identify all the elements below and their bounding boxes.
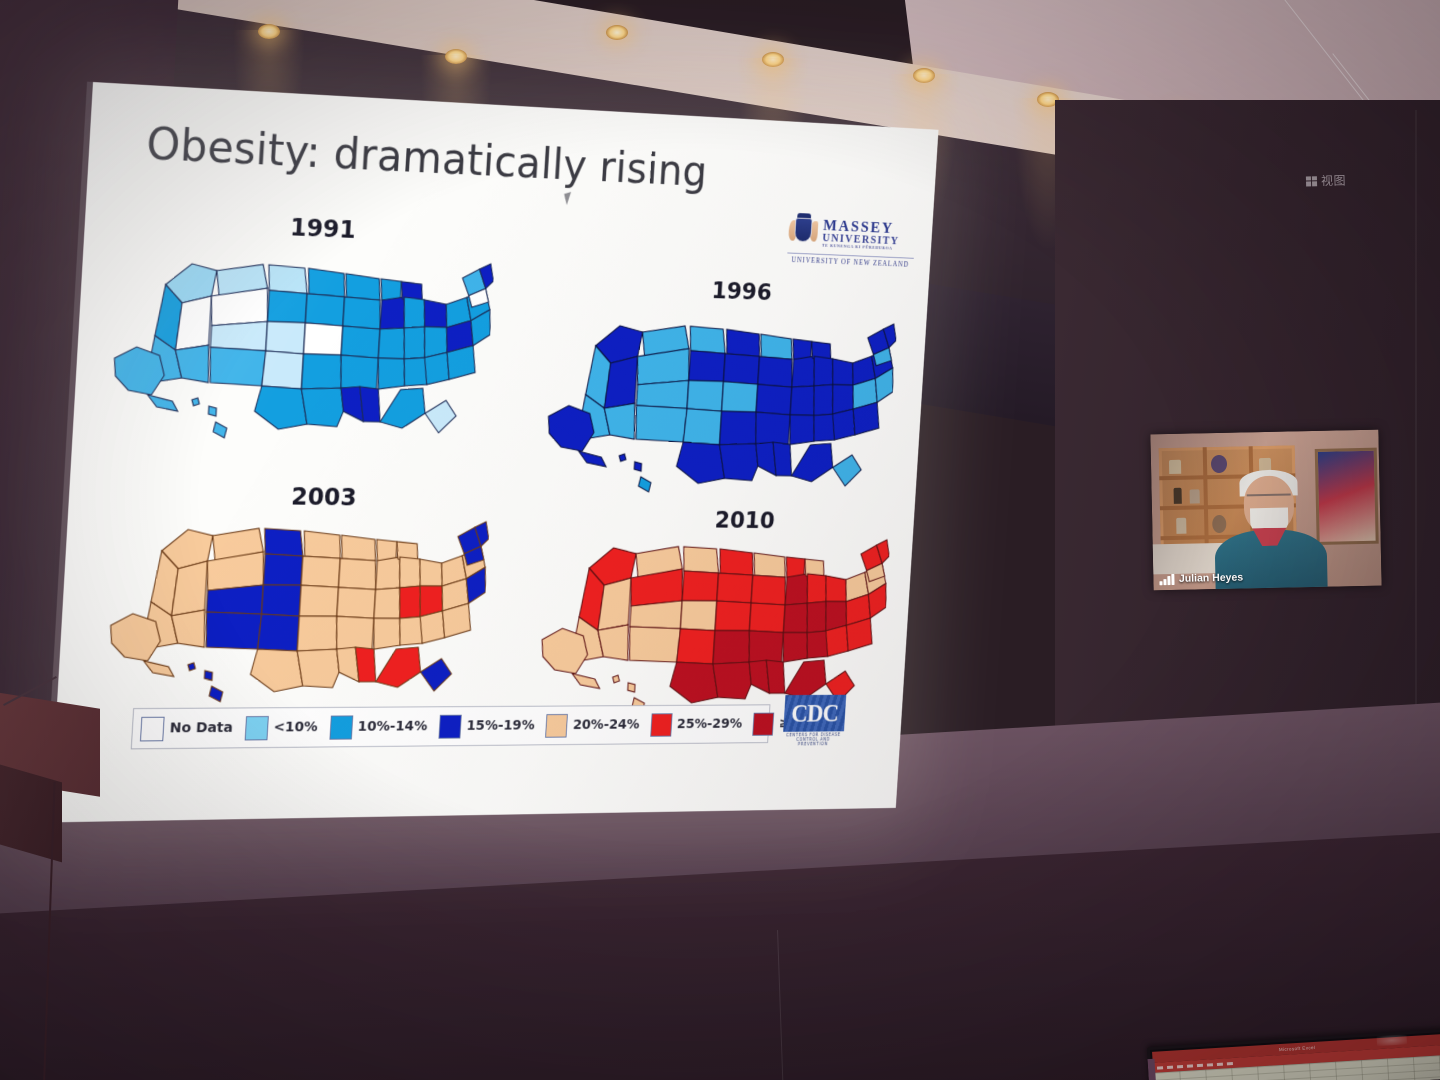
downlight-icon — [913, 68, 935, 83]
legend-item: 10%-14% — [329, 714, 428, 739]
cdc-tagline: CENTERS FOR DISEASE CONTROL AND PREVENTI… — [782, 733, 844, 747]
page-title: Obesity: dramatically rising — [145, 119, 709, 197]
legend-label: 15%-19% — [466, 718, 535, 734]
legend-label: 25%-29% — [677, 717, 743, 732]
us-choropleth-map-2003 — [102, 499, 491, 711]
downlight-icon — [258, 24, 280, 39]
legend-item: <10% — [244, 715, 318, 740]
view-toggle-button[interactable]: 视图 — [1306, 172, 1346, 190]
legend-swatch-20-24 — [545, 714, 568, 738]
downlight-icon — [762, 52, 784, 67]
grid-view-icon — [1306, 176, 1317, 186]
massey-university-logo: MASSEY UNIVERSITY TE KUNENGA KI PŪREHURO… — [787, 213, 917, 269]
legend-item: 20%-24% — [545, 713, 640, 737]
presentation-slide: Obesity: dramatically rising MASSEY UNIV… — [50, 82, 938, 822]
cdc-logo: CDC CENTERS FOR DISEASE CONTROL AND PREV… — [782, 695, 858, 750]
us-choropleth-map-2010 — [534, 519, 892, 722]
legend-swatch-lt10 — [244, 716, 268, 740]
legend-swatch-15-19 — [438, 714, 461, 738]
participant-glasses — [1247, 493, 1291, 502]
legend-swatch-25-29 — [650, 713, 672, 736]
laptop-app-title: Microsoft Excel — [1279, 1045, 1316, 1052]
video-participant-tile[interactable]: Julian Heyes — [1150, 430, 1381, 591]
legend-label: <10% — [273, 720, 318, 736]
view-toggle-label: 视图 — [1321, 172, 1346, 190]
us-choropleth-map-1996 — [540, 295, 898, 504]
wall-poster — [1315, 448, 1379, 545]
projection-screen: Obesity: dramatically rising MASSEY UNIV… — [49, 82, 938, 837]
legend-item: 15%-19% — [438, 714, 535, 738]
downlight-icon — [445, 49, 467, 64]
participant-name-badge: Julian Heyes — [1159, 571, 1243, 585]
legend-item: 25%-29% — [650, 712, 743, 736]
legend-label: 10%-14% — [357, 719, 427, 735]
legend-swatch-10-14 — [329, 715, 353, 739]
lectern — [0, 700, 102, 850]
legend-swatch-no-data — [140, 716, 165, 741]
mouse-pointer-icon — [564, 192, 574, 205]
cdc-wordmark: CDC — [791, 701, 839, 726]
map-legend: No Data <10% 10%-14% 15%-19% — [131, 704, 771, 749]
legend-swatch-ge30 — [753, 712, 775, 735]
massey-crest-icon — [788, 213, 819, 251]
legend-item: No Data — [140, 716, 233, 741]
legend-label: No Data — [169, 720, 233, 736]
legend-label: 20%-24% — [572, 717, 639, 733]
conference-room-photo: Obesity: dramatically rising MASSEY UNIV… — [0, 0, 1440, 1080]
us-choropleth-map-1991 — [106, 231, 496, 452]
audio-bars-icon — [1159, 573, 1174, 584]
downlight-icon — [606, 25, 628, 40]
brand-motto: TE KUNENGA KI PŪREHUROA — [822, 244, 899, 251]
participant-name: Julian Heyes — [1179, 571, 1243, 584]
